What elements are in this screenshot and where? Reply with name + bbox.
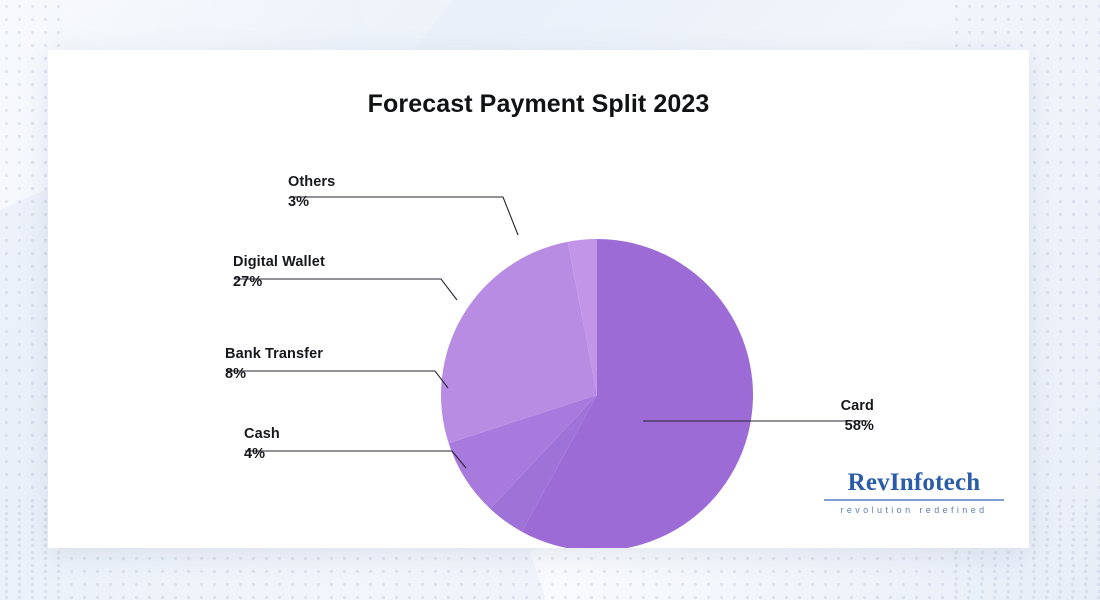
brand-logo-tagline: revolution redefined <box>824 505 1004 515</box>
callout-bank-transfer-value: 8% <box>225 365 323 385</box>
callout-digital-wallet-value: 27% <box>233 273 325 293</box>
chart-card: Forecast Payment Split 2023 Others 3% <box>48 50 1029 548</box>
callout-others-label: Others <box>288 173 335 193</box>
callout-digital-wallet: Digital Wallet 27% <box>233 253 325 292</box>
callout-cash-value: 4% <box>244 445 280 465</box>
callout-bank-transfer: Bank Transfer 8% <box>225 345 323 384</box>
callout-others: Others 3% <box>288 173 335 212</box>
callout-others-value: 3% <box>288 193 335 213</box>
pie-slice-group <box>441 239 753 548</box>
brand-logo: RevInfotech revolution redefined <box>824 470 1004 515</box>
brand-logo-rule <box>824 499 1004 501</box>
callout-card-label: Card <box>764 397 874 417</box>
callout-cash: Cash 4% <box>244 425 280 464</box>
page-background: Forecast Payment Split 2023 Others 3% <box>0 0 1100 600</box>
callout-digital-wallet-label: Digital Wallet <box>233 253 325 273</box>
callout-card: Card 58% <box>764 397 874 436</box>
callout-cash-label: Cash <box>244 425 280 445</box>
brand-logo-wordmark: RevInfotech <box>824 470 1004 496</box>
callout-bank-transfer-label: Bank Transfer <box>225 345 323 365</box>
callout-card-value: 58% <box>764 417 874 437</box>
